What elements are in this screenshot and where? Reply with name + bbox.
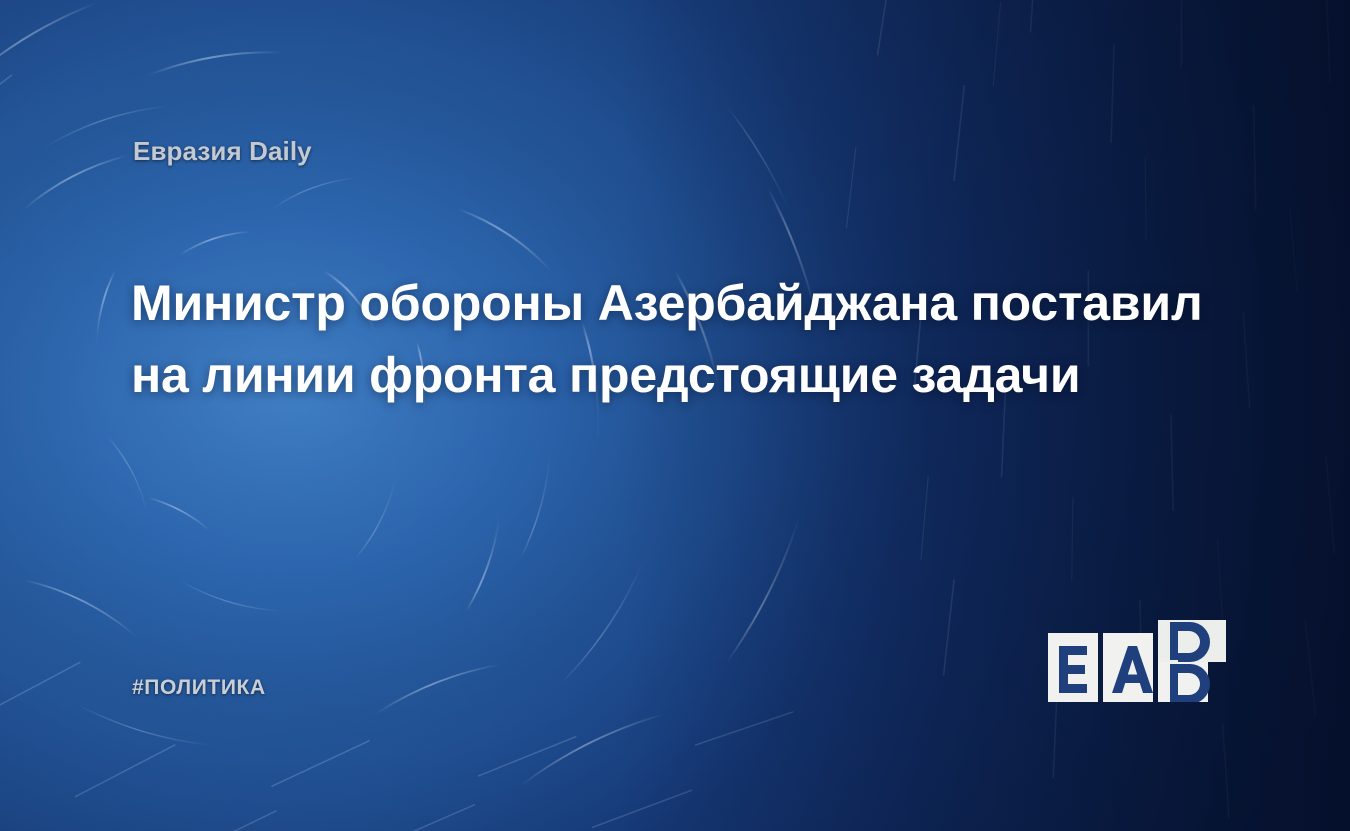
page-title: Министр обороны Азербайджана поставил на… — [131, 268, 1241, 411]
logo-letter-e — [1059, 646, 1087, 693]
brand-name: Евразия Daily — [133, 136, 312, 167]
social-share-card: Евразия Daily Министр обороны Азербайджа… — [0, 0, 1350, 831]
category-tag: #ПОЛИТИКА — [132, 676, 266, 700]
ead-logo[interactable] — [1048, 620, 1228, 702]
card-content: Евразия Daily Министр обороны Азербайджа… — [0, 0, 1350, 831]
